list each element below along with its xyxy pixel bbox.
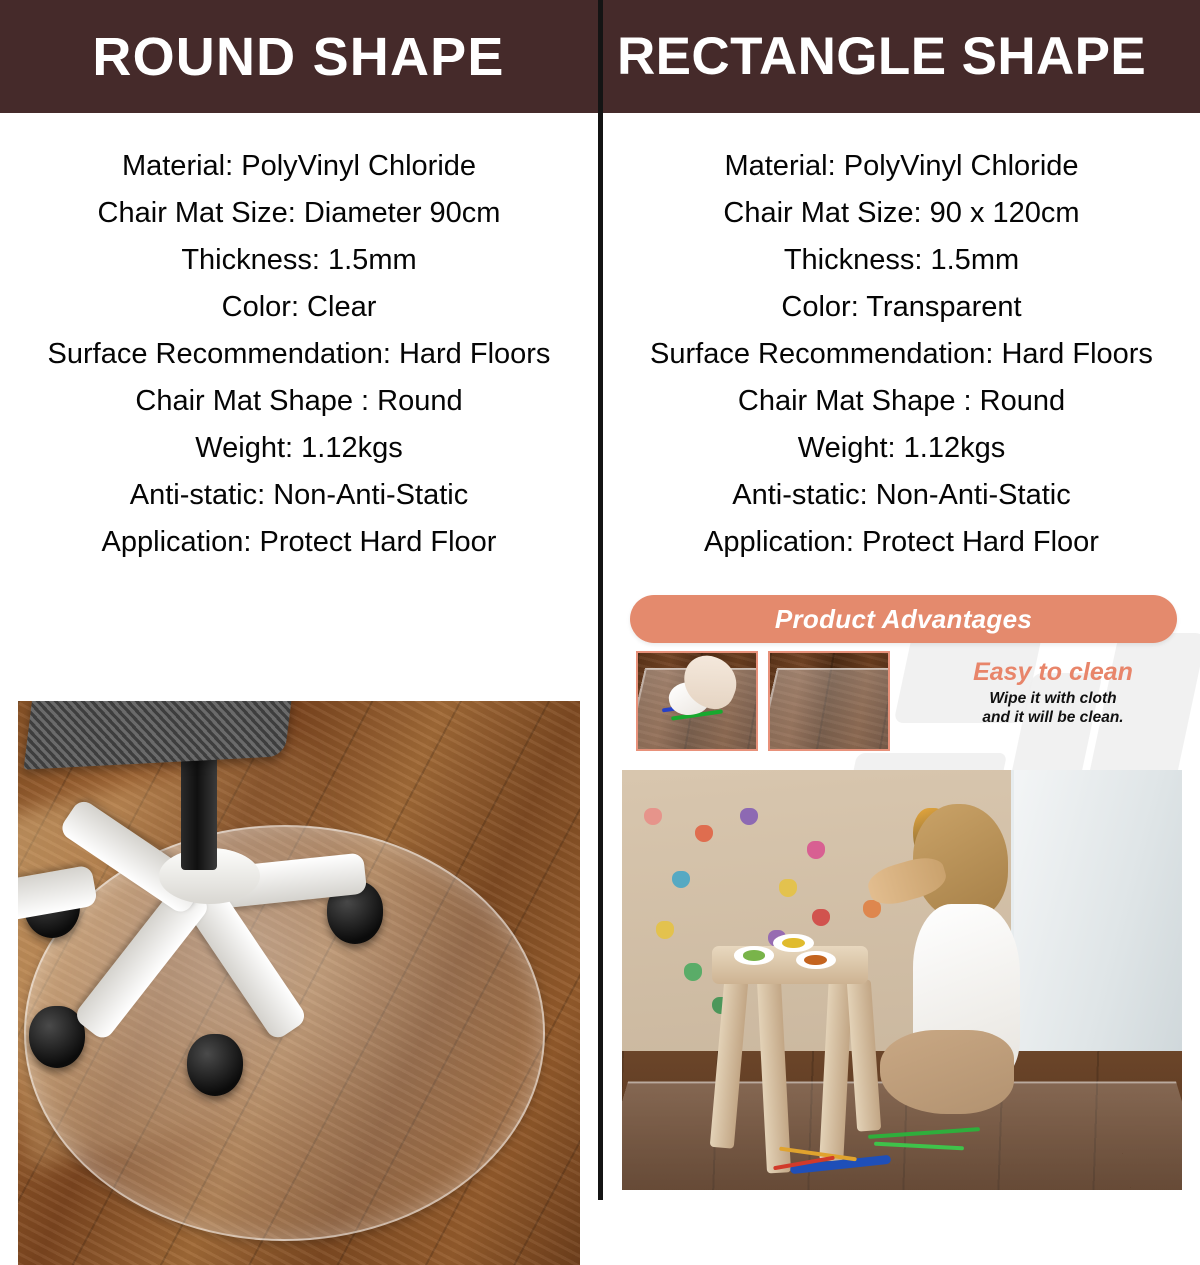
left-spec-list: Material: PolyVinyl Chloride Chair Mat S…: [0, 143, 598, 566]
handprint: [684, 963, 702, 981]
handprint: [740, 808, 758, 826]
spec-weight: Weight: 1.12kgs: [603, 425, 1200, 472]
right-spec-list: Material: PolyVinyl Chloride Chair Mat S…: [603, 143, 1200, 566]
product-advantages-label: Product Advantages: [775, 604, 1032, 635]
spec-thickness: Thickness: 1.5mm: [0, 237, 598, 284]
spec-weight: Weight: 1.12kgs: [0, 425, 598, 472]
spec-shape: Chair Mat Shape : Round: [603, 378, 1200, 425]
panel-divider: [598, 0, 603, 1200]
header-right: RECTANGLE SHAPE: [603, 0, 1200, 113]
spec-antistatic: Anti-static: Non-Anti-Static: [603, 472, 1200, 519]
thumbnail-clean-mat[interactable]: [768, 651, 890, 751]
spec-surface: Surface Recommendation: Hard Floors: [0, 331, 598, 378]
right-product-photo: [622, 770, 1182, 1190]
spec-application: Application: Protect Hard Floor: [603, 519, 1200, 566]
left-panel-title: ROUND SHAPE: [92, 30, 504, 84]
right-panel-title: RECTANGLE SHAPE: [617, 30, 1146, 83]
chair-caster: [187, 1034, 243, 1096]
paint-dish: [734, 946, 774, 964]
thumbnail-wiping-mat[interactable]: [636, 651, 758, 751]
right-panel: Material: PolyVinyl Chloride Chair Mat S…: [603, 113, 1200, 1200]
child-legs: [880, 1030, 1014, 1114]
handprint: [807, 841, 825, 859]
spec-shape: Chair Mat Shape : Round: [0, 378, 598, 425]
handprint: [656, 921, 674, 939]
spec-material: Material: PolyVinyl Chloride: [603, 143, 1200, 190]
product-comparison-page: ROUND SHAPE RECTANGLE SHAPE Material: Po…: [0, 0, 1200, 1200]
chair-gas-cylinder: [181, 752, 217, 870]
spec-antistatic: Anti-static: Non-Anti-Static: [0, 472, 598, 519]
easy-to-clean-line2: and it will be clean.: [913, 709, 1193, 728]
spec-material: Material: PolyVinyl Chloride: [0, 143, 598, 190]
paint-dish: [773, 934, 813, 952]
handprint: [695, 825, 713, 843]
paint-dish: [796, 951, 836, 969]
handprint: [779, 879, 797, 897]
spec-thickness: Thickness: 1.5mm: [603, 237, 1200, 284]
easy-to-clean-block: Easy to clean Wipe it with cloth and it …: [913, 659, 1193, 727]
spec-size: Chair Mat Size: 90 x 120cm: [603, 190, 1200, 237]
left-panel: Material: PolyVinyl Chloride Chair Mat S…: [0, 113, 598, 1200]
product-advantages-banner: Product Advantages: [630, 595, 1177, 643]
left-product-photo: [18, 701, 580, 1265]
spec-application: Application: Protect Hard Floor: [0, 519, 598, 566]
easy-to-clean-title: Easy to clean: [913, 659, 1193, 685]
handprint: [863, 900, 881, 918]
thumb-mat-surface: [768, 668, 890, 751]
easy-to-clean-line1: Wipe it with cloth: [913, 690, 1193, 709]
spec-size: Chair Mat Size: Diameter 90cm: [0, 190, 598, 237]
spec-color: Color: Transparent: [603, 284, 1200, 331]
header-left: ROUND SHAPE: [0, 0, 597, 113]
white-cabinet: [1011, 770, 1182, 1072]
spec-surface: Surface Recommendation: Hard Floors: [603, 331, 1200, 378]
spec-color: Color: Clear: [0, 284, 598, 331]
